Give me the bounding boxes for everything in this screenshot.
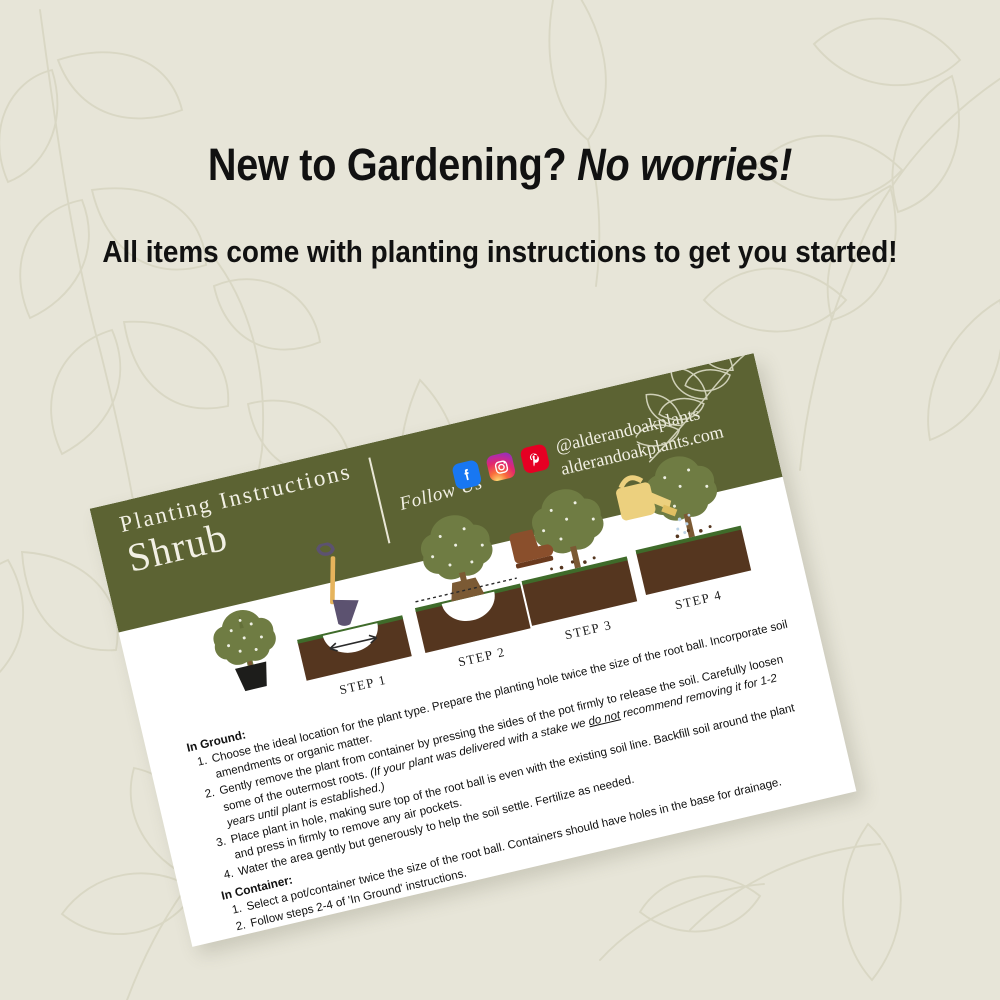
- card-stage: Planting Instructions Shrub Follow Us: [0, 0, 1000, 1000]
- planting-instructions-card: Planting Instructions Shrub Follow Us: [90, 353, 857, 947]
- potted-shrub-icon: [205, 599, 290, 703]
